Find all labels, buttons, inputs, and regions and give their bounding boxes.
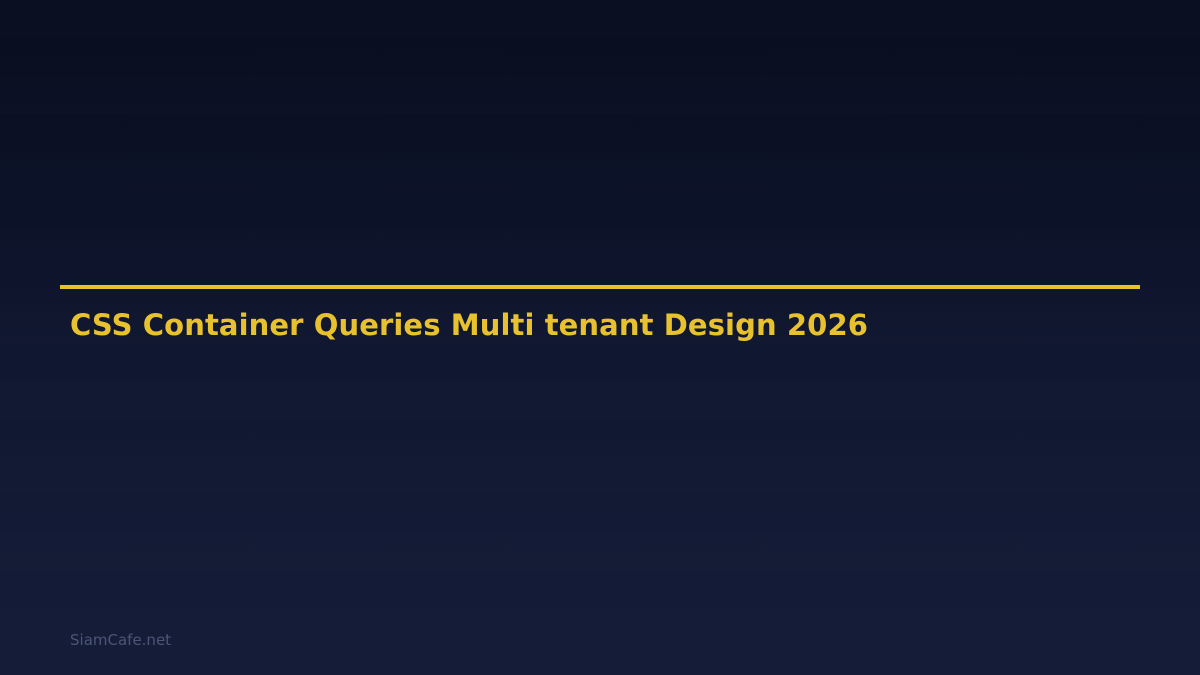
accent-rule-divider bbox=[60, 285, 1140, 289]
title-block: CSS Container Queries Multi tenant Desig… bbox=[60, 285, 1140, 289]
page-title: CSS Container Queries Multi tenant Desig… bbox=[70, 308, 868, 342]
footer-brand-label: SiamCafe.net bbox=[70, 630, 171, 650]
presentation-slide: CSS Container Queries Multi tenant Desig… bbox=[0, 0, 1200, 675]
